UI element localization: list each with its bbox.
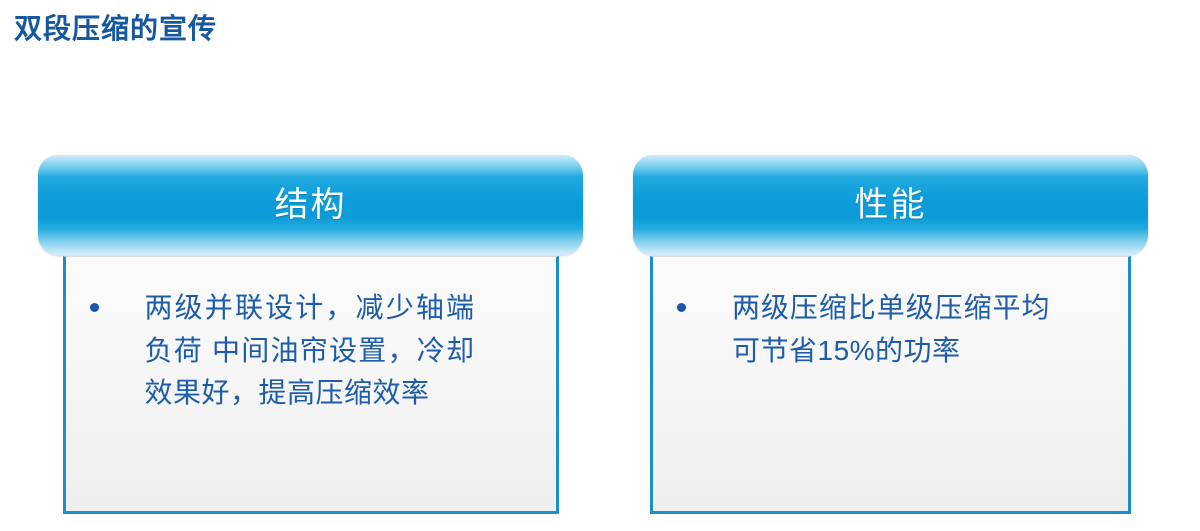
card-body-performance: 两级压缩比单级压缩平均可节省15%的功率 [650,256,1131,514]
card-header-performance: 性能 [633,155,1148,255]
card-header-structure: 结构 [38,155,583,255]
bullet-dot-icon [677,303,686,312]
list-item: 两级压缩比单级压缩平均可节省15%的功率 [653,257,1128,372]
card-body-text: 两级压缩比单级压缩平均可节省15%的功率 [732,287,1050,372]
bullet-dot-icon [90,303,99,312]
card-body-text: 两级并联设计，减少轴端负荷 中间油帘设置，冷却效果好，提高压缩效率 [145,287,475,415]
card-performance: 性能 两级压缩比单级压缩平均可节省15%的功率 [633,155,1148,514]
card-header-label: 结构 [275,188,347,222]
card-structure: 结构 两级并联设计，减少轴端负荷 中间油帘设置，冷却效果好，提高压缩效率 [38,155,583,514]
card-body-structure: 两级并联设计，减少轴端负荷 中间油帘设置，冷却效果好，提高压缩效率 [63,256,559,514]
page-title: 双段压缩的宣传 [14,12,217,46]
list-item: 两级并联设计，减少轴端负荷 中间油帘设置，冷却效果好，提高压缩效率 [66,257,556,415]
card-header-label: 性能 [855,188,927,222]
